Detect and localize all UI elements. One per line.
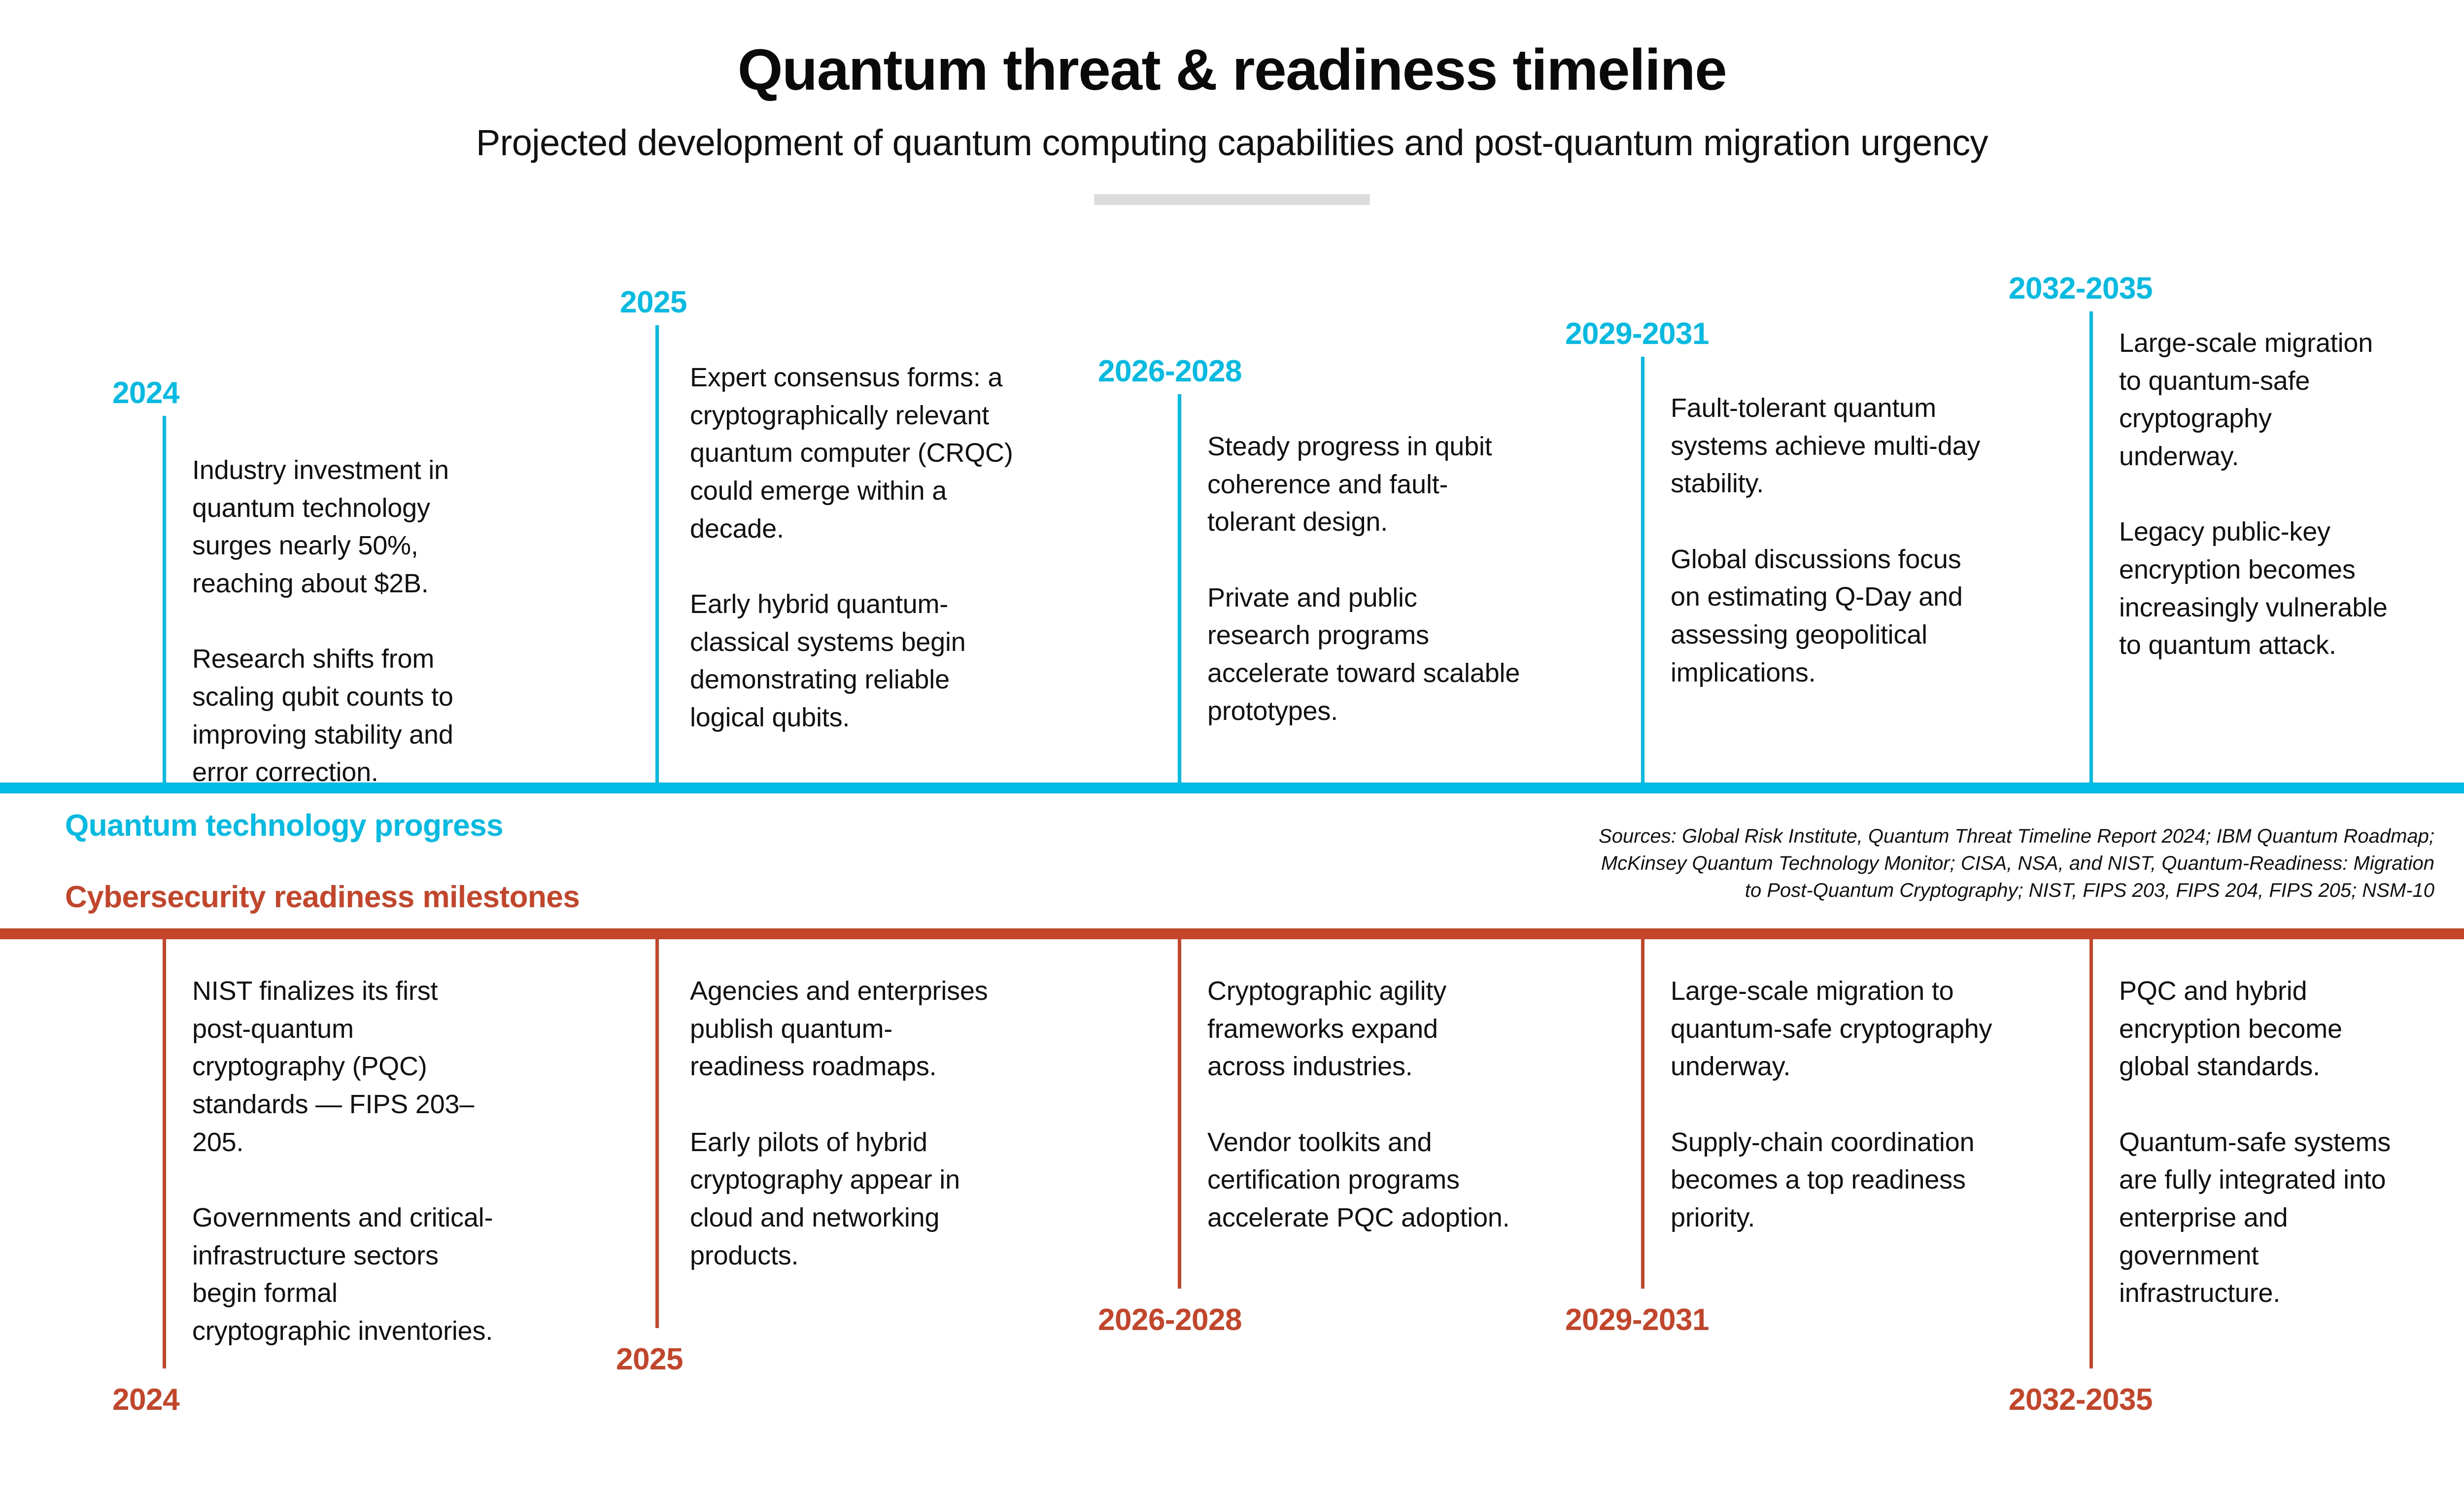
cybersecurity-axis-line bbox=[0, 928, 2464, 939]
quantum-year-label-2029-2031: 2029-2031 bbox=[1565, 316, 1709, 351]
sources-note: Sources: Global Risk Institute, Quantum … bbox=[1483, 823, 2434, 905]
quantum-body-2025: Expert consensus forms: a cryptographica… bbox=[690, 359, 1015, 737]
quantum-axis-line bbox=[0, 783, 2464, 793]
legend-quantum-technology-progress: Quantum technology progress bbox=[65, 808, 503, 843]
quantum-body-2029-2031: Fault-tolerant quantum systems achieve m… bbox=[1671, 389, 1986, 691]
quantum-paragraph: Fault-tolerant quantum systems achieve m… bbox=[1671, 389, 1986, 503]
cyber-year-label-2025: 2025 bbox=[616, 1342, 683, 1377]
quantum-year-label-2032-2035: 2032-2035 bbox=[2009, 271, 2153, 306]
cyber-year-label-2024: 2024 bbox=[112, 1382, 179, 1417]
sources-line-2: McKinsey Quantum Technology Monitor; CIS… bbox=[1601, 852, 2434, 874]
cyber-paragraph: Agencies and enterprises publish quantum… bbox=[690, 972, 1005, 1086]
quantum-body-2024: Industry investment in quantum technolog… bbox=[192, 451, 508, 791]
sources-line-1: Sources: Global Risk Institute, Quantum … bbox=[1599, 825, 2434, 847]
cyber-paragraph: Cryptographic agility frameworks expand … bbox=[1207, 972, 1523, 1086]
quantum-body-2026-2028: Steady progress in qubit coherence and f… bbox=[1207, 428, 1523, 730]
quantum-paragraph: Steady progress in qubit coherence and f… bbox=[1207, 428, 1523, 541]
quantum-paragraph: Research shifts from scaling qubit count… bbox=[192, 640, 508, 791]
quantum-paragraph: Global discussions focus on estimating Q… bbox=[1671, 541, 1986, 692]
quantum-tick-2032-2035 bbox=[2089, 311, 2093, 793]
quantum-year-label-2026-2028: 2026-2028 bbox=[1098, 354, 1242, 389]
quantum-tick-2025 bbox=[655, 325, 659, 793]
cyber-body-2026-2028: Cryptographic agility frameworks expand … bbox=[1207, 972, 1523, 1237]
page-title: Quantum threat & readiness timeline bbox=[0, 39, 2464, 101]
infographic-canvas: Quantum threat & readiness timeline Proj… bbox=[0, 0, 2464, 1500]
quantum-body-2032-2035: Large-scale migration to quantum-safe cr… bbox=[2119, 324, 2395, 664]
quantum-paragraph: Legacy public-key encryption becomes inc… bbox=[2119, 513, 2395, 664]
cyber-paragraph: Early pilots of hybrid cryptography appe… bbox=[690, 1124, 1005, 1275]
cyber-paragraph: Large-scale migration to quantum-safe cr… bbox=[1671, 972, 2006, 1086]
cyber-body-2032-2035: PQC and hybrid encryption become global … bbox=[2119, 972, 2395, 1312]
quantum-tick-2029-2031 bbox=[1641, 357, 1644, 793]
quantum-paragraph: Large-scale migration to quantum-safe cr… bbox=[2119, 324, 2395, 476]
quantum-paragraph: Expert consensus forms: a cryptographica… bbox=[690, 359, 1015, 547]
header: Quantum threat & readiness timeline Proj… bbox=[0, 0, 2464, 205]
cyber-body-2024: NIST finalizes its first post-quantum cr… bbox=[192, 972, 498, 1350]
cyber-tick-2024 bbox=[163, 939, 166, 1368]
legend-cybersecurity-readiness-milestones: Cybersecurity readiness milestones bbox=[65, 880, 580, 915]
cyber-paragraph: Vendor toolkits and certification progra… bbox=[1207, 1124, 1523, 1237]
cyber-paragraph: Supply-chain coordination becomes a top … bbox=[1671, 1124, 2006, 1237]
cyber-paragraph: Quantum-safe systems are fully integrate… bbox=[2119, 1124, 2395, 1312]
quantum-paragraph: Private and public research programs acc… bbox=[1207, 579, 1523, 730]
cyber-tick-2032-2035 bbox=[2089, 939, 2093, 1368]
cyber-body-2029-2031: Large-scale migration to quantum-safe cr… bbox=[1671, 972, 2006, 1237]
cyber-paragraph: Governments and critical-infrastructure … bbox=[192, 1199, 498, 1350]
header-divider bbox=[1094, 194, 1370, 205]
quantum-tick-2026-2028 bbox=[1178, 394, 1181, 793]
cyber-paragraph: PQC and hybrid encryption become global … bbox=[2119, 972, 2395, 1086]
cyber-tick-2025 bbox=[655, 939, 659, 1328]
quantum-year-label-2024: 2024 bbox=[112, 375, 179, 410]
cyber-tick-2029-2031 bbox=[1641, 939, 1644, 1289]
quantum-tick-2024 bbox=[163, 416, 166, 793]
cyber-year-label-2032-2035: 2032-2035 bbox=[2009, 1382, 2153, 1417]
cyber-year-label-2026-2028: 2026-2028 bbox=[1098, 1302, 1242, 1337]
cyber-body-2025: Agencies and enterprises publish quantum… bbox=[690, 972, 1005, 1274]
cyber-paragraph: NIST finalizes its first post-quantum cr… bbox=[192, 972, 498, 1161]
quantum-paragraph: Industry investment in quantum technolog… bbox=[192, 451, 508, 603]
quantum-year-label-2025: 2025 bbox=[620, 285, 687, 320]
sources-line-3: to Post-Quantum Cryptography; NIST, FIPS… bbox=[1745, 880, 2434, 901]
cybersecurity-readiness-track: NIST finalizes its first post-quantum cr… bbox=[0, 939, 2464, 1461]
quantum-paragraph: Early hybrid quantum-classical systems b… bbox=[690, 585, 1015, 737]
cyber-tick-2026-2028 bbox=[1178, 939, 1181, 1289]
quantum-technology-track: 2024 Industry investment in quantum tech… bbox=[0, 232, 2464, 793]
page-subtitle: Projected development of quantum computi… bbox=[0, 122, 2464, 164]
cyber-year-label-2029-2031: 2029-2031 bbox=[1565, 1302, 1709, 1337]
